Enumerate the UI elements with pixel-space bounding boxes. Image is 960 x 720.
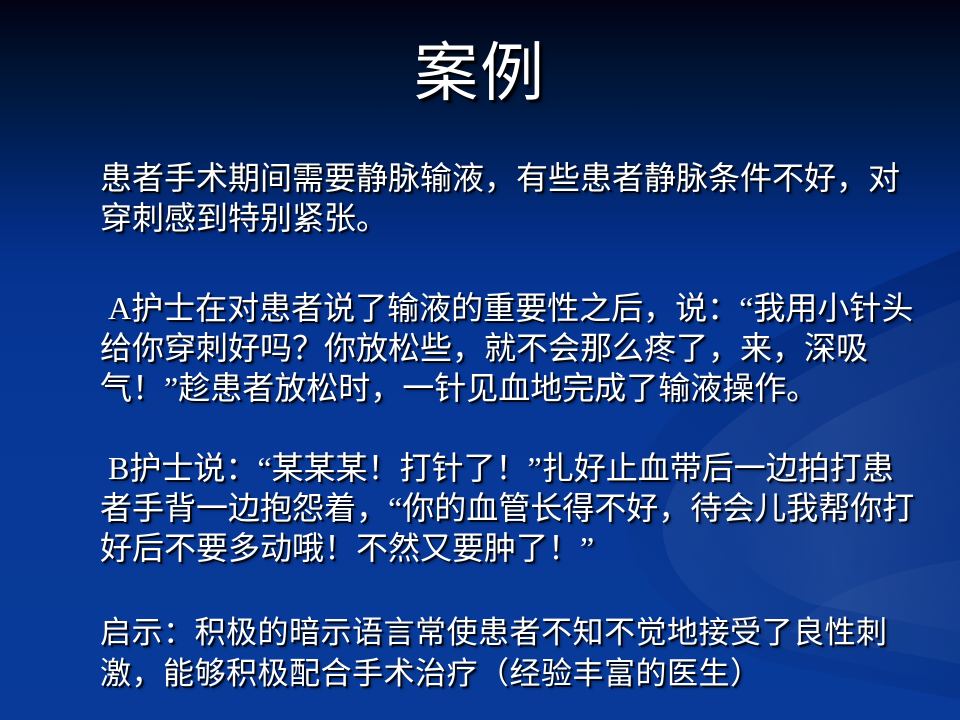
presentation-slide: 案例 患者手术期间需要静脉输液，有些患者静脉条件不好，对穿刺感到特别紧张。 A护…: [0, 0, 960, 720]
paragraph-nurse-b: B护士说：“某某某！打针了！”扎好止血带后一边拍打患者手背一边抱怨着，“你的血管…: [100, 448, 918, 568]
paragraph-intro: 患者手术期间需要静脉输液，有些患者静脉条件不好，对穿刺感到特别紧张。: [100, 158, 916, 238]
paragraph-nurse-a: A护士在对患者说了输液的重要性之后，说：“我用小针头给你穿刺好吗？你放松些，就不…: [100, 288, 918, 408]
paragraph-insight: 启示：积极的暗示语言常使患者不知不觉地接受了良性刺激，能够积极配合手术治疗（经验…: [100, 612, 922, 694]
page-title: 案例: [0, 42, 960, 106]
